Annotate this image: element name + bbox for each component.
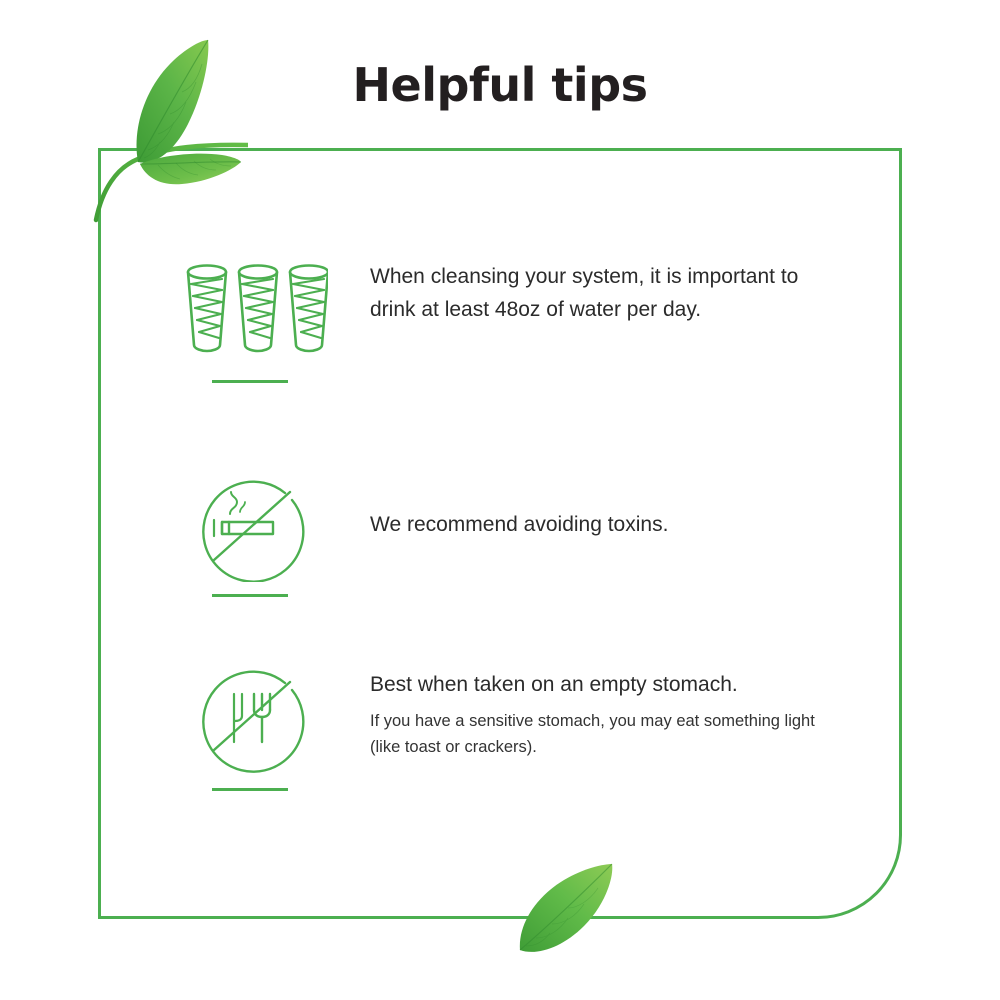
tip-icon-wrapper <box>172 658 328 791</box>
tip-headline: When cleansing your system, it is import… <box>370 260 840 326</box>
three-water-glasses-icon <box>172 252 328 362</box>
tip-divider <box>212 594 288 597</box>
tip-icon-wrapper <box>172 470 328 597</box>
tips-list: When cleansing your system, it is import… <box>0 0 1000 1000</box>
no-smoking-icon <box>172 470 328 582</box>
tip-divider <box>212 380 288 383</box>
tip-subtext: If you have a sensitive stomach, you may… <box>370 708 840 760</box>
tip-headline: Best when taken on an empty stomach. <box>370 668 840 701</box>
tip-headline: We recommend avoiding toxins. <box>370 508 840 541</box>
tip-text-block: When cleansing your system, it is import… <box>370 260 840 326</box>
no-food-icon <box>172 658 328 774</box>
tip-divider <box>212 788 288 791</box>
helpful-tips-card: Helpful tips <box>0 0 1000 1000</box>
tip-text-block: Best when taken on an empty stomach. If … <box>370 668 840 760</box>
tip-text-block: We recommend avoiding toxins. <box>370 508 840 541</box>
tip-icon-wrapper <box>172 252 328 383</box>
